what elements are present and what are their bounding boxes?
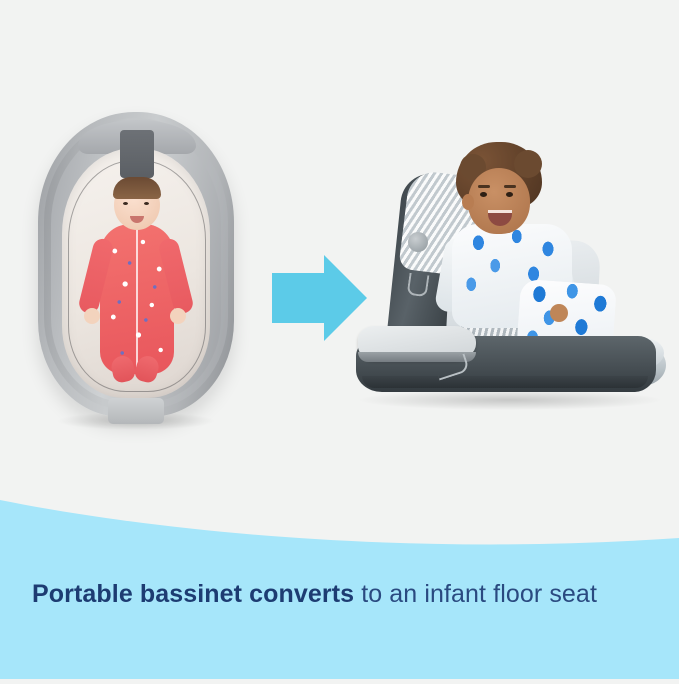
bassinet-base-clip — [108, 398, 164, 424]
caption-bold-text: Portable bassinet converts — [32, 580, 354, 608]
seat-drop-shadow — [360, 390, 660, 410]
toddler-brow-left — [478, 185, 490, 188]
toddler-ear — [462, 194, 474, 210]
toddler-eye-left — [480, 192, 487, 197]
toddler-brow-right — [504, 185, 516, 188]
seat-base-lip — [362, 376, 648, 388]
product-feature-image: Portable bassinet converts to an infant … — [0, 0, 679, 679]
product-image-bassinet — [38, 112, 234, 437]
bassinet-top-strap — [120, 130, 154, 178]
baby-hand-left — [84, 308, 100, 324]
caption-text: Portable bassinet converts to an infant … — [32, 578, 652, 611]
baby-hand-right — [170, 308, 186, 324]
recline-button-icon — [408, 232, 428, 252]
product-image-floor-seat — [352, 140, 672, 415]
baby-hair — [113, 177, 161, 199]
baby-eye-left — [123, 202, 128, 205]
sleeper-zipper — [136, 228, 138, 368]
caption-regular-text: to an infant floor seat — [354, 580, 597, 608]
baby-eye-right — [144, 202, 149, 205]
baby-in-bassinet — [88, 180, 184, 386]
toddler-hand — [550, 304, 568, 322]
toddler-eye-right — [506, 192, 513, 197]
